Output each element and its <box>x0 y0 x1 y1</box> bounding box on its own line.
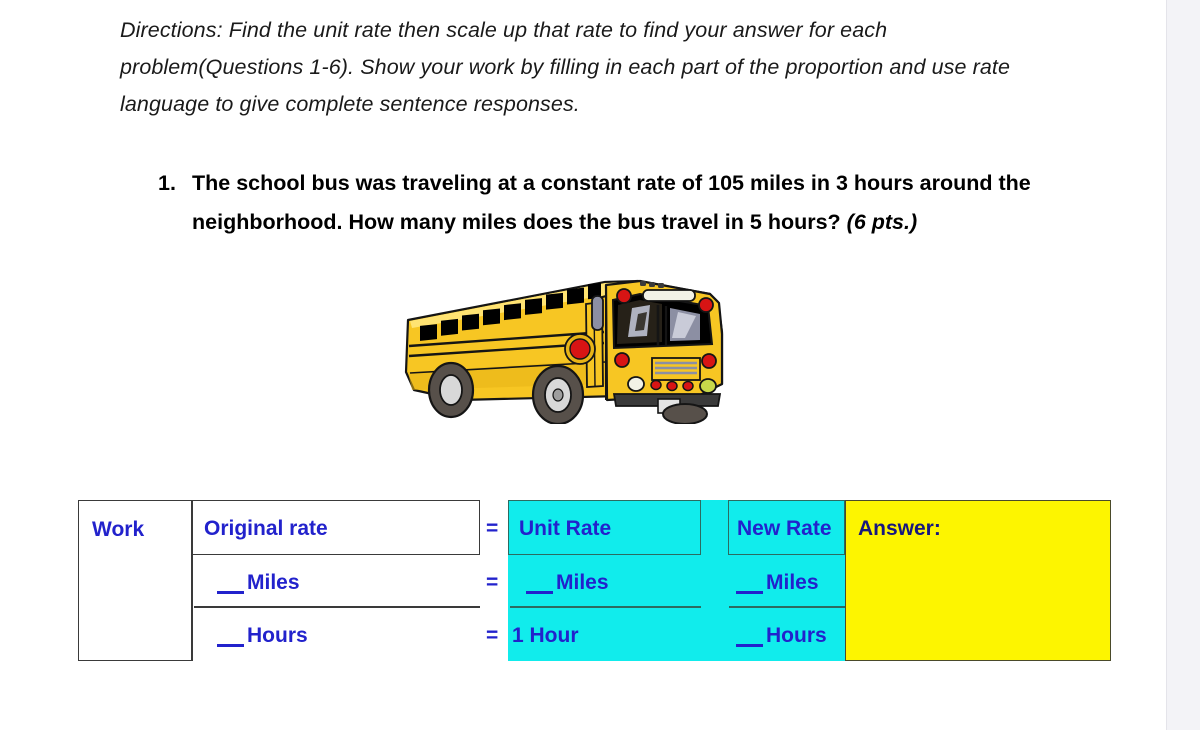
original-denominator-blank[interactable] <box>217 644 244 647</box>
document-canvas: Directions: Find the unit rate then scal… <box>0 0 1166 730</box>
new-denominator-unit: Hours <box>766 624 827 647</box>
unit-rate-denominator: 1 Hour <box>512 624 579 648</box>
original-rate-header-cell: Original rate <box>192 500 480 555</box>
unit-numerator-blank[interactable] <box>526 591 553 594</box>
school-bus-illustration <box>400 272 730 424</box>
original-numerator-unit: Miles <box>247 571 300 594</box>
equals-sign-original-to-unit-numerator: = <box>486 571 498 595</box>
question-number: 1. <box>158 164 192 203</box>
original-rate-column: Original rate Miles Hours <box>192 500 480 661</box>
new-rate-denominator: Hours <box>736 624 827 648</box>
original-rate-numerator: Miles <box>217 571 300 595</box>
unit-rate-fraction-bar <box>510 606 701 608</box>
original-rate-denominator-cell[interactable]: Hours <box>192 608 480 661</box>
question-1-block: 1. The school bus was traveling at a con… <box>158 164 1038 241</box>
new-rate-header-cell: New Rate <box>728 500 845 555</box>
unit-rate-numerator: Miles <box>526 571 609 595</box>
original-rate-header-label: Original rate <box>204 517 328 541</box>
page-right-margin <box>1166 0 1200 730</box>
equals-sign-original-to-unit-header: = <box>486 517 498 541</box>
new-rate-numerator: Miles <box>736 571 819 595</box>
new-rate-header-label: New Rate <box>737 517 832 541</box>
original-rate-numerator-cell[interactable]: Miles <box>192 555 480 608</box>
question-points: (6 pts.) <box>847 210 917 234</box>
question-text-wrapper: The school bus was traveling at a consta… <box>192 164 1032 241</box>
directions-paragraph: Directions: Find the unit rate then scal… <box>120 12 1030 123</box>
unit-rate-header-cell: Unit Rate <box>508 500 701 555</box>
proportion-work-table: Work Original rate Miles Hours = = = Uni… <box>78 500 1111 662</box>
original-denominator-unit: Hours <box>247 624 308 647</box>
original-numerator-blank[interactable] <box>217 591 244 594</box>
work-cell[interactable]: Work <box>78 500 192 661</box>
unit-numerator-unit: Miles <box>556 571 609 594</box>
unit-rate-column: Unit Rate Miles 1 Hour <box>508 500 701 661</box>
original-rate-denominator: Hours <box>217 624 308 648</box>
unit-rate-header-label: Unit Rate <box>519 517 611 541</box>
new-numerator-unit: Miles <box>766 571 819 594</box>
new-rate-fraction-bar <box>729 606 845 608</box>
new-rate-column: New Rate Miles Hours <box>701 500 845 661</box>
new-denominator-blank[interactable] <box>736 644 763 647</box>
work-label: Work <box>92 518 144 542</box>
equals-sign-original-to-unit-denominator: = <box>486 624 498 648</box>
answer-label: Answer: <box>858 517 941 541</box>
answer-cell[interactable]: Answer: <box>845 500 1111 661</box>
new-numerator-blank[interactable] <box>736 591 763 594</box>
